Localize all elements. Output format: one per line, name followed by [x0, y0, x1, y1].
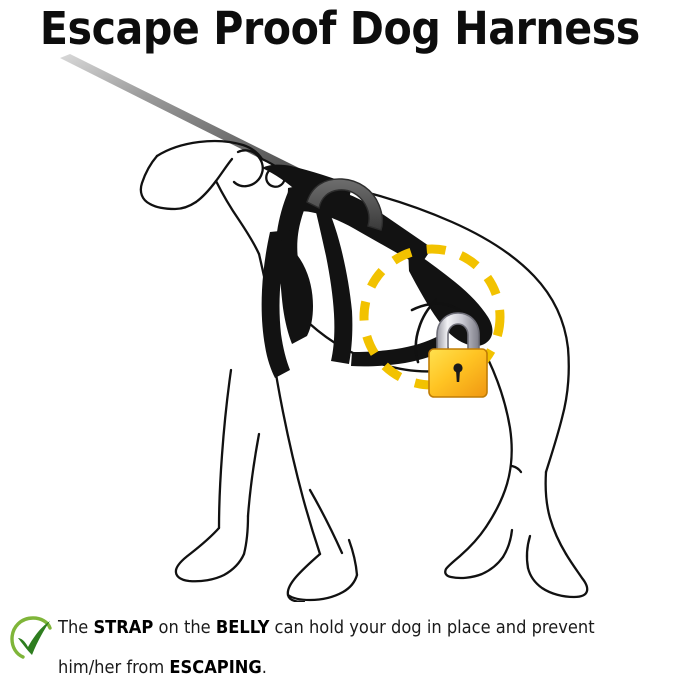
- caption-line-2: him/her from ESCAPING.: [58, 648, 633, 688]
- caption-l2-part1: him/her from: [58, 658, 169, 678]
- page-title-bar: Escape Proof Dog Harness: [0, 0, 679, 58]
- caption-l1-part2: on the: [153, 618, 216, 638]
- caption-l1-bold-belly: BELLY: [216, 618, 270, 638]
- page-title: Escape Proof Dog Harness: [40, 5, 640, 53]
- caption-l2-part2: .: [262, 658, 267, 678]
- caption-line-1: The STRAP on the BELLY can hold your dog…: [58, 608, 633, 648]
- caption-l1-part3: can hold your dog in place and prevent: [269, 618, 594, 638]
- caption-l1-bold-strap: STRAP: [93, 618, 153, 638]
- caption-l1-part1: The: [58, 618, 93, 638]
- green-check-icon: [8, 614, 56, 662]
- caption-l2-bold-escaping: ESCAPING: [169, 658, 261, 678]
- dog-harness-illustration: [0, 52, 679, 602]
- caption-paragraph: The STRAP on the BELLY can hold your dog…: [58, 608, 633, 688]
- product-feature-image: Escape Proof Dog Harness: [0, 0, 679, 691]
- caption-block: The STRAP on the BELLY can hold your dog…: [0, 606, 679, 691]
